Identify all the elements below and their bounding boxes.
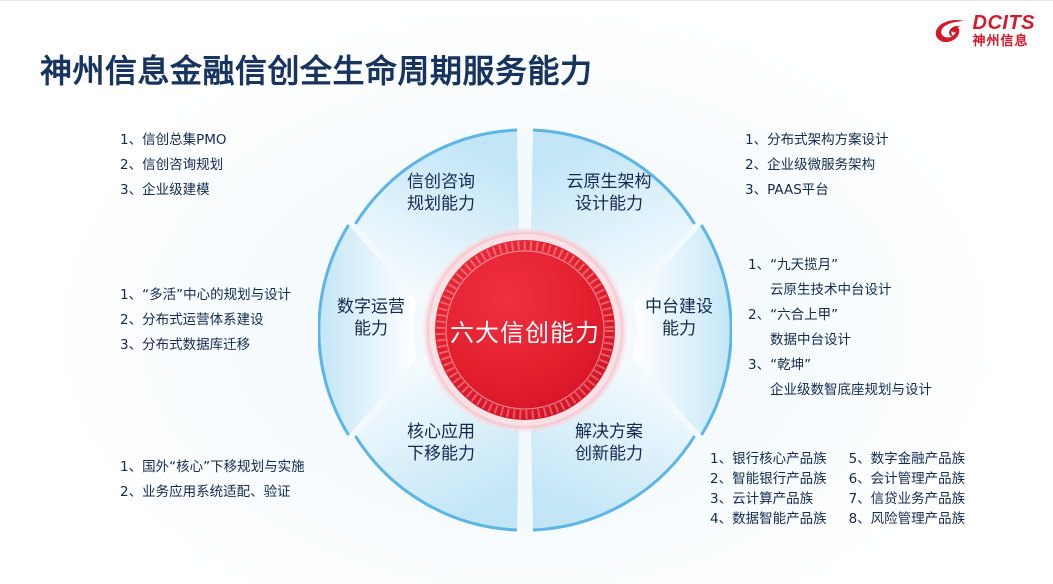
note-line: 3、分布式数据库迁移 (120, 333, 291, 358)
note-middle-left: 1、“多活”中心的规划与设计 2、分布式运营体系建设 3、分布式数据库迁移 (120, 283, 291, 358)
dcits-swirl-icon (933, 16, 967, 46)
note-line: 企业级数智底座规划与设计 (748, 378, 932, 403)
note-line: 2、分布式运营体系建设 (120, 308, 291, 333)
note-line: 1、信创总集PMO (120, 128, 227, 153)
note-line: 2、企业级微服务架构 (745, 153, 889, 178)
note-line: 8、风险管理产品族 (849, 509, 966, 529)
note-line: 5、数字金融产品族 (849, 449, 966, 469)
note-line: 数据中台设计 (748, 328, 932, 353)
slide-canvas: DCITS 神州信息 神州信息金融信创全生命周期服务能力 1、信创总集PMO 2… (0, 0, 1053, 584)
note-line: 1、“九天揽月” (748, 253, 932, 278)
note-line: 2、“六合上甲” (748, 303, 932, 328)
six-capabilities-donut-diagram: 信创咨询 规划能力 云原生架构 设计能力 数字运营 能力 中台建设 能力 核心应… (318, 123, 732, 537)
note-line: 7、信贷业务产品族 (849, 489, 966, 509)
note-line: 1、分布式架构方案设计 (745, 128, 889, 153)
note-middle-right: 1、“九天揽月” 云原生技术中台设计 2、“六合上甲” 数据中台设计 3、“乾坤… (748, 253, 932, 403)
note-column-right: 5、数字金融产品族 6、会计管理产品族 7、信贷业务产品族 8、风险管理产品族 (849, 449, 966, 529)
logo-text-en: DCITS (973, 13, 1036, 33)
note-line: 3、企业级建模 (120, 178, 227, 203)
note-line: 3、PAAS平台 (745, 178, 889, 203)
note-line: 6、会计管理产品族 (849, 469, 966, 489)
note-line: 2、信创咨询规划 (120, 153, 227, 178)
logo-text-cn: 神州信息 (973, 35, 1029, 48)
note-line: 2、业务应用系统适配、验证 (120, 480, 305, 505)
dcits-logo: DCITS 神州信息 (933, 13, 1036, 48)
note-top-left: 1、信创总集PMO 2、信创咨询规划 3、企业级建模 (120, 128, 227, 203)
note-bottom-left: 1、国外“核心”下移规划与实施 2、业务应用系统适配、验证 (120, 455, 305, 505)
top-divider (0, 0, 1053, 1)
note-line: 1、“多活”中心的规划与设计 (120, 283, 291, 308)
note-line: 1、国外“核心”下移规划与实施 (120, 455, 305, 480)
note-bottom-right: 1、银行核心产品族 2、智能银行产品族 3、云计算产品族 4、数据智能产品族 5… (710, 449, 965, 529)
note-line: 云原生技术中台设计 (748, 278, 932, 303)
page-title: 神州信息金融信创全生命周期服务能力 (40, 46, 593, 92)
donut-svg (318, 123, 732, 537)
note-top-right: 1、分布式架构方案设计 2、企业级微服务架构 3、PAAS平台 (745, 128, 889, 203)
core-circle[interactable] (435, 240, 615, 420)
note-line: 3、“乾坤” (748, 353, 932, 378)
